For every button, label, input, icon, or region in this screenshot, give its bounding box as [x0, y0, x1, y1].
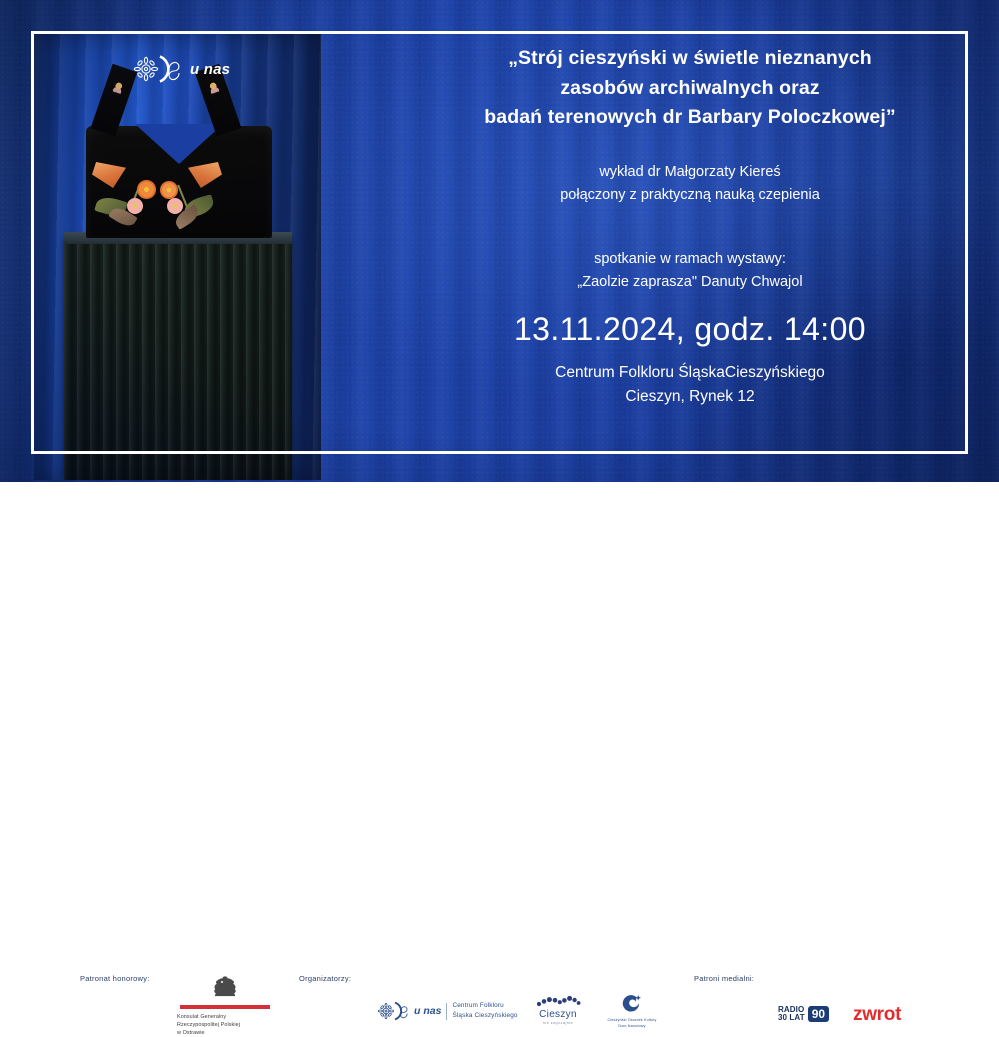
title-line-1: „Strój cieszyński w świetle nieznanych — [508, 47, 872, 69]
cok-line-2: Dom Narodowy — [601, 1024, 663, 1030]
consulate-red-bar — [180, 1005, 270, 1009]
page-title: „Strój cieszyński w świetle nieznanych z… — [420, 44, 960, 133]
radio-90-badge: 90 — [808, 1006, 829, 1022]
u-nas-logo-text: u nas — [190, 61, 230, 78]
centrum-folkloru-unas-text: u nas — [414, 1005, 441, 1017]
cok-line-1: Cieszyński Ośrodek Kultury — [601, 1018, 663, 1024]
radio-line-2: 30 LAT — [778, 1013, 805, 1022]
media-patrons-label: Patroni medialni: — [694, 974, 754, 983]
venue-line-1: Centrum Folkloru ŚląskaCieszyńskiego — [555, 364, 825, 381]
consulate-line-2: Rzeczypospolitej Polskiej — [177, 1021, 273, 1029]
cf-name-line-1: Centrum Folkloru — [452, 1002, 503, 1009]
organizers-label: Organizatorzy: — [299, 974, 351, 983]
meeting-info: spotkanie w ramach wystawy: „Zaolzie zap… — [420, 248, 960, 295]
folk-rosette-infinity-icon — [131, 52, 183, 86]
title-line-3: badań terenowych dr Barbary Poloczkowej” — [484, 106, 895, 128]
consulate-name: Konsulat Generalny Rzeczypospolitej Pols… — [177, 1013, 273, 1037]
meeting-line-2: „Zaolzie zaprasza" Danuty Chwajol — [577, 274, 802, 290]
centrum-folkloru-name: Centrum Folkloru Śląska Cieszyńskiego — [452, 1001, 517, 1021]
poster-banner: u nas „Strój cieszyński w świetle niezna… — [0, 0, 999, 482]
lecturer-line-2: połączony z praktyczną nauką czepienia — [560, 187, 820, 203]
cok-name: Cieszyński Ośrodek Kultury Dom Narodowy — [601, 1018, 663, 1029]
consulate-logo: Konsulat Generalny Rzeczypospolitej Pols… — [177, 974, 273, 1037]
radio-90-logo: RADIO 30 LAT 90 — [778, 1006, 829, 1023]
logo-divider — [446, 1003, 447, 1020]
patronage-label: Patronat honorowy: — [80, 974, 150, 983]
title-line-2: zasobów archiwalnych oraz — [560, 77, 819, 99]
cieszyn-tagline: nie zwyczajnie — [531, 1021, 585, 1025]
cieszyn-wordmark: Cieszyn — [531, 1009, 585, 1020]
cok-swirl-star-icon — [620, 993, 644, 1015]
radio-90-text: RADIO 30 LAT — [778, 1006, 805, 1023]
event-poster: u nas „Strój cieszyński w świetle niezna… — [0, 0, 999, 562]
folk-rosette-infinity-icon — [377, 1000, 409, 1022]
event-venue: Centrum Folkloru ŚląskaCieszyńskiego Cie… — [420, 361, 960, 411]
venue-line-2: Cieszyn, Rynek 12 — [625, 388, 754, 405]
cieszyn-city-logo: Cieszyn nie zwyczajnie — [531, 995, 585, 1025]
u-nas-logo: u nas — [131, 52, 230, 86]
poster-footer: Patronat honorowy: Organizatorzy: Patron… — [0, 482, 999, 562]
cf-name-line-2: Śląska Cieszyńskiego — [452, 1012, 517, 1019]
dotted-crown-icon — [533, 995, 583, 1008]
lecturer-info: wykład dr Małgorzaty Kiereś połączony z … — [420, 161, 960, 208]
event-datetime: 13.11.2024, godz. 14:00 — [420, 311, 960, 349]
zwrot-logo: zwrot — [853, 1004, 901, 1026]
consulate-line-3: w Ostrawie — [177, 1029, 273, 1037]
consulate-line-1: Konsulat Generalny — [177, 1013, 273, 1021]
polish-eagle-emblem-icon — [212, 974, 238, 1001]
meeting-line-1: spotkanie w ramach wystawy: — [594, 251, 786, 267]
centrum-folkloru-logo: u nas Centrum Folkloru Śląska Cieszyński… — [377, 1000, 518, 1022]
lecturer-line-1: wykład dr Małgorzaty Kiereś — [599, 164, 780, 180]
cok-logo: Cieszyński Ośrodek Kultury Dom Narodowy — [601, 993, 663, 1029]
poster-text-block: „Strój cieszyński w świetle nieznanych z… — [420, 44, 960, 410]
